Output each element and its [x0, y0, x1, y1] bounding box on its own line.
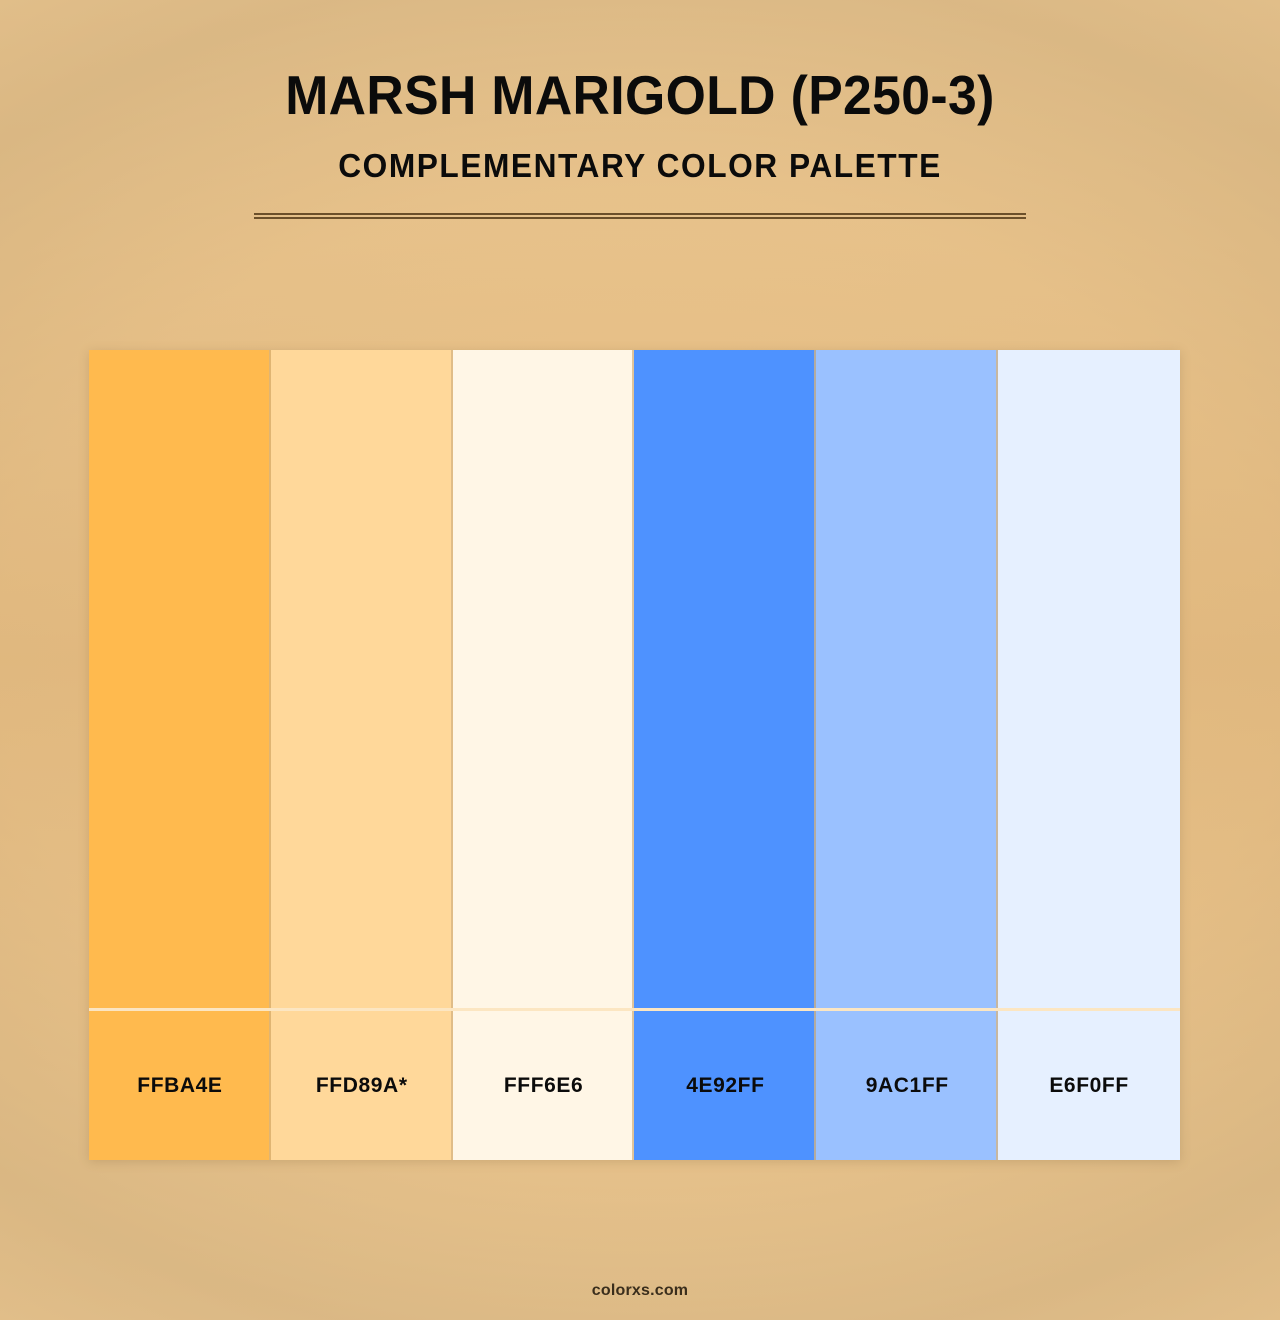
- swatch-row: [89, 350, 1180, 1008]
- color-swatch[interactable]: [998, 350, 1180, 1008]
- page-header: MARSH MARIGOLD (P250-3) COMPLEMENTARY CO…: [0, 0, 1280, 219]
- color-hex-label: E6F0FF: [1049, 1074, 1128, 1098]
- color-palette: FFBA4E FFD89A* FFF6E6 4E92FF 9AC1FF E6F0…: [89, 350, 1180, 1160]
- color-label-cell[interactable]: FFF6E6: [453, 1011, 635, 1160]
- color-hex-label: FFBA4E: [137, 1074, 222, 1098]
- color-label-cell[interactable]: FFBA4E: [89, 1011, 271, 1160]
- color-label-cell[interactable]: FFD89A*: [271, 1011, 453, 1160]
- color-swatch[interactable]: [453, 350, 635, 1008]
- color-hex-label: 4E92FF: [686, 1074, 764, 1098]
- color-swatch[interactable]: [89, 350, 271, 1008]
- site-credit: colorxs.com: [592, 1282, 688, 1299]
- swatch-label-row: FFBA4E FFD89A* FFF6E6 4E92FF 9AC1FF E6F0…: [89, 1008, 1180, 1160]
- color-hex-label: 9AC1FF: [866, 1074, 949, 1098]
- palette-page: MARSH MARIGOLD (P250-3) COMPLEMENTARY CO…: [0, 0, 1280, 1320]
- color-hex-label: FFD89A*: [316, 1074, 408, 1098]
- color-label-cell[interactable]: 4E92FF: [634, 1011, 816, 1160]
- page-footer: colorxs.com: [0, 1282, 1280, 1300]
- page-subtitle: COMPLEMENTARY COLOR PALETTE: [26, 147, 1255, 185]
- header-divider: [254, 213, 1026, 219]
- color-label-cell[interactable]: E6F0FF: [998, 1011, 1180, 1160]
- color-hex-label: FFF6E6: [504, 1074, 583, 1098]
- color-swatch[interactable]: [634, 350, 816, 1008]
- page-title: MARSH MARIGOLD (P250-3): [38, 66, 1241, 125]
- color-swatch[interactable]: [271, 350, 453, 1008]
- color-swatch[interactable]: [816, 350, 998, 1008]
- color-label-cell[interactable]: 9AC1FF: [816, 1011, 998, 1160]
